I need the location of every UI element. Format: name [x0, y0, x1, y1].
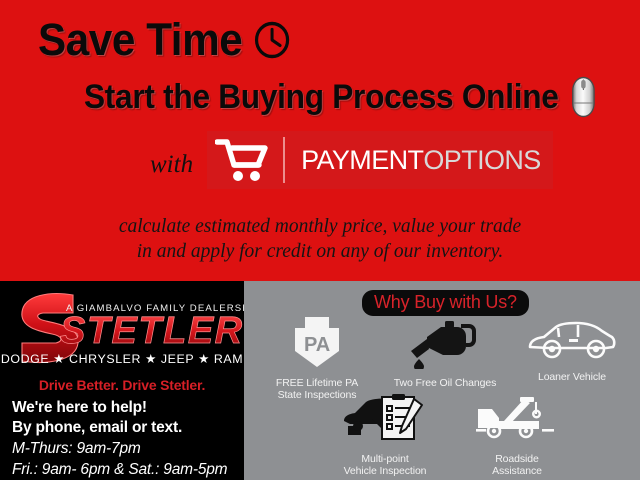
wordmark-payment: PAYMENT — [301, 145, 423, 176]
hero-tagline: calculate estimated monthly price, value… — [0, 214, 640, 264]
feature-pa-inspections: PA FREE Lifetime PA State Inspections — [258, 315, 376, 402]
hero-headline-secondary-text: Start the Buying Process Online — [84, 78, 559, 116]
clipboard-inspection-icon — [320, 393, 450, 449]
contact-hours-block: We're here to help! By phone, email or t… — [12, 398, 244, 480]
contact-line-1: We're here to help! — [12, 398, 244, 418]
feature-mpi-label-2: Vehicle Inspection — [320, 465, 450, 478]
feature-roadside-label-1: Roadside — [456, 453, 578, 466]
feature-mpi-label-1: Multi-point — [320, 453, 450, 466]
hero-headline-primary: Save Time — [38, 16, 291, 64]
feature-roadside-assistance: Roadside Assistance — [456, 393, 578, 478]
dealership-ad-banner: Save Time Start the Buying Process Onlin… — [0, 0, 640, 480]
feature-roadside-label-2: Assistance — [456, 465, 578, 478]
hero-headline-secondary: Start the Buying Process Online — [84, 76, 596, 118]
hero-tagline-line-2: in and apply for credit on any of our in… — [0, 239, 640, 264]
wordmark-options: OPTIONS — [423, 145, 540, 176]
tow-truck-icon — [456, 393, 578, 449]
contact-line-3: M-Thurs: 9am-7pm — [12, 438, 244, 459]
pa-badge-text: PA — [304, 334, 330, 356]
shopping-cart-icon — [215, 137, 269, 183]
hero-tagline-line-1: calculate estimated monthly price, value… — [119, 216, 521, 237]
feature-pa-label-1: FREE Lifetime PA — [258, 377, 376, 390]
with-label: with — [150, 151, 193, 179]
payment-options-wordmark: PAYMENT OPTIONS — [301, 145, 541, 176]
feature-multipoint-inspection: Multi-point Vehicle Inspection — [320, 393, 450, 478]
dealer-name-text: STETLER — [60, 310, 244, 352]
hero-headline-primary-text: Save Time — [38, 16, 242, 64]
contact-line-2: By phone, email or text. — [12, 418, 244, 438]
payment-options-lockup: with PAYMENT OPTIONS — [150, 131, 553, 189]
feature-loaner-label-1: Loaner Vehicle — [512, 371, 632, 384]
clock-icon — [254, 20, 292, 60]
why-buy-panel: Why Buy with Us? PA FREE Lifetime PA Sta… — [244, 281, 640, 480]
dealer-slogan: Drive Better. Drive Stetler. — [0, 377, 244, 393]
hero-panel: Save Time Start the Buying Process Onlin… — [0, 0, 640, 281]
stetler-logo: A GIAMBALVO FAMILY DEALERSHIP STETLER DO… — [0, 281, 244, 389]
dealer-info-panel: A GIAMBALVO FAMILY DEALERSHIP STETLER DO… — [0, 281, 244, 480]
payment-options-logo: PAYMENT OPTIONS — [207, 131, 553, 189]
why-buy-heading: Why Buy with Us? — [362, 290, 529, 316]
feature-oil-label-1: Two Free Oil Changes — [382, 377, 508, 390]
feature-oil-changes: Two Free Oil Changes — [382, 317, 508, 389]
pa-keystone-icon: PA — [258, 315, 376, 373]
computer-mouse-icon — [572, 76, 596, 118]
car-icon — [512, 317, 632, 367]
dealer-brands-text: DODGE ★ CHRYSLER ★ JEEP ★ RAM — [1, 352, 243, 366]
contact-line-4: Fri.: 9am- 6pm & Sat.: 9am-5pm — [12, 459, 244, 480]
logo-divider — [283, 137, 285, 183]
oil-can-icon — [382, 317, 508, 373]
feature-loaner-vehicle: Loaner Vehicle — [512, 317, 632, 383]
